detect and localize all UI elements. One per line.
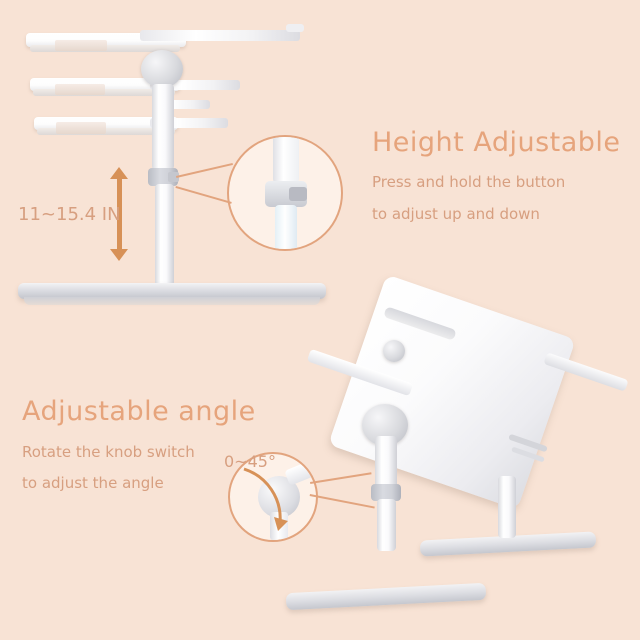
angle-subline-2: to adjust the angle [22, 474, 164, 492]
height-subline-1: Press and hold the button [372, 173, 565, 191]
callout-lock-button [289, 187, 307, 201]
height-headline: Height Adjustable [372, 127, 621, 158]
angle-knob-switch [383, 340, 405, 362]
height-range-label: 11~15.4 IN [18, 204, 121, 225]
angle-upper-column [375, 436, 397, 488]
height-arrow-down-head [110, 249, 128, 261]
height-callout-leader-lower [175, 186, 231, 204]
upper-column [152, 84, 174, 170]
desk-tray-mid-pad [55, 84, 105, 95]
infographic-canvas: 11~15.4 IN Height Adjustable Press and h… [0, 0, 640, 640]
callout-column-lower [275, 205, 297, 251]
desk-tray-high-pad [55, 40, 107, 51]
desk-tray-low-pad [56, 122, 106, 134]
callout-column-upper [273, 135, 299, 183]
angle-lower-column [377, 499, 396, 551]
base-plate-shadow [24, 297, 320, 305]
rear-support-column [498, 476, 516, 538]
height-lock-button-callout [227, 135, 343, 251]
lower-column [155, 184, 174, 286]
support-arm-high-tip [286, 24, 304, 32]
pivot-knob-top [141, 50, 183, 88]
height-subline-2: to adjust up and down [372, 205, 540, 223]
angle-headline: Adjustable angle [22, 396, 256, 427]
front-foot [286, 583, 487, 610]
angle-range-label: 0~45° [224, 452, 276, 471]
support-arm-high [140, 30, 300, 41]
angle-subline-1: Rotate the knob switch [22, 443, 195, 461]
height-callout-leader-upper [176, 163, 233, 178]
